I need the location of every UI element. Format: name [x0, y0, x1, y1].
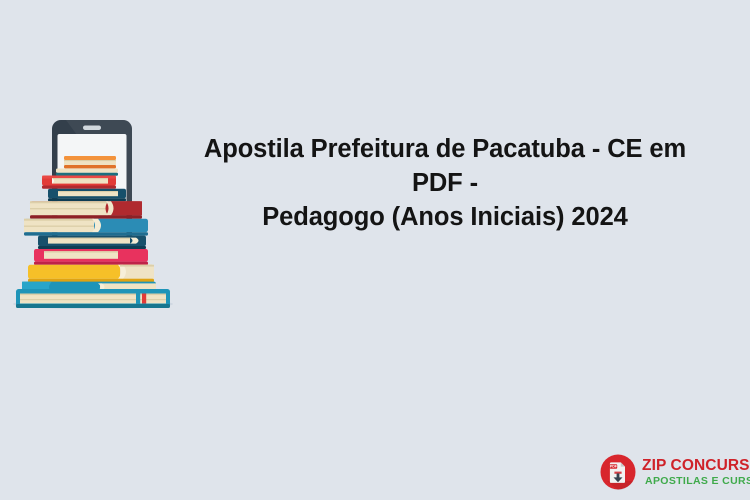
book-blue-sixth — [24, 219, 148, 236]
bookmark-teal — [136, 294, 140, 304]
title-block: Apostila Prefeitura de Pacatuba - CE em … — [178, 132, 712, 234]
book-navy-seventh — [38, 236, 146, 249]
brand-name: ZIP CONCURSOS — [642, 458, 750, 474]
book-navy-fourth — [48, 189, 126, 202]
book-yellow-ninth — [28, 265, 154, 282]
brand-logo[interactable]: PDF ZIP CONCURSOS APOSTILAS E CURSOS — [600, 452, 746, 492]
book-red-third — [42, 176, 116, 189]
bookmark-red — [142, 294, 146, 304]
book-orange-top — [64, 156, 116, 168]
page-title-line-1: Apostila Prefeitura de Pacatuba - CE em … — [204, 135, 686, 197]
brand-text: ZIP CONCURSOS APOSTILAS E CURSOS — [642, 458, 750, 487]
book-cream-second — [56, 169, 118, 176]
page-title: Apostila Prefeitura de Pacatuba - CE em … — [178, 132, 712, 234]
brand-tagline: APOSTILAS E CURSOS — [642, 476, 750, 487]
pdf-download-icon: PDF — [600, 454, 636, 490]
pdf-badge-text: PDF — [610, 465, 618, 469]
document-glyph: PDF — [610, 462, 625, 483]
page-title-line-2: Pedagogo (Anos Iniciais) 2024 — [262, 203, 628, 231]
book-darkred-fifth — [30, 201, 142, 218]
stack-of-books-illustration — [8, 118, 178, 318]
book-teal-base — [16, 289, 170, 308]
poster-canvas: Apostila Prefeitura de Pacatuba - CE em … — [0, 0, 750, 500]
book-pink-eighth — [34, 249, 148, 265]
